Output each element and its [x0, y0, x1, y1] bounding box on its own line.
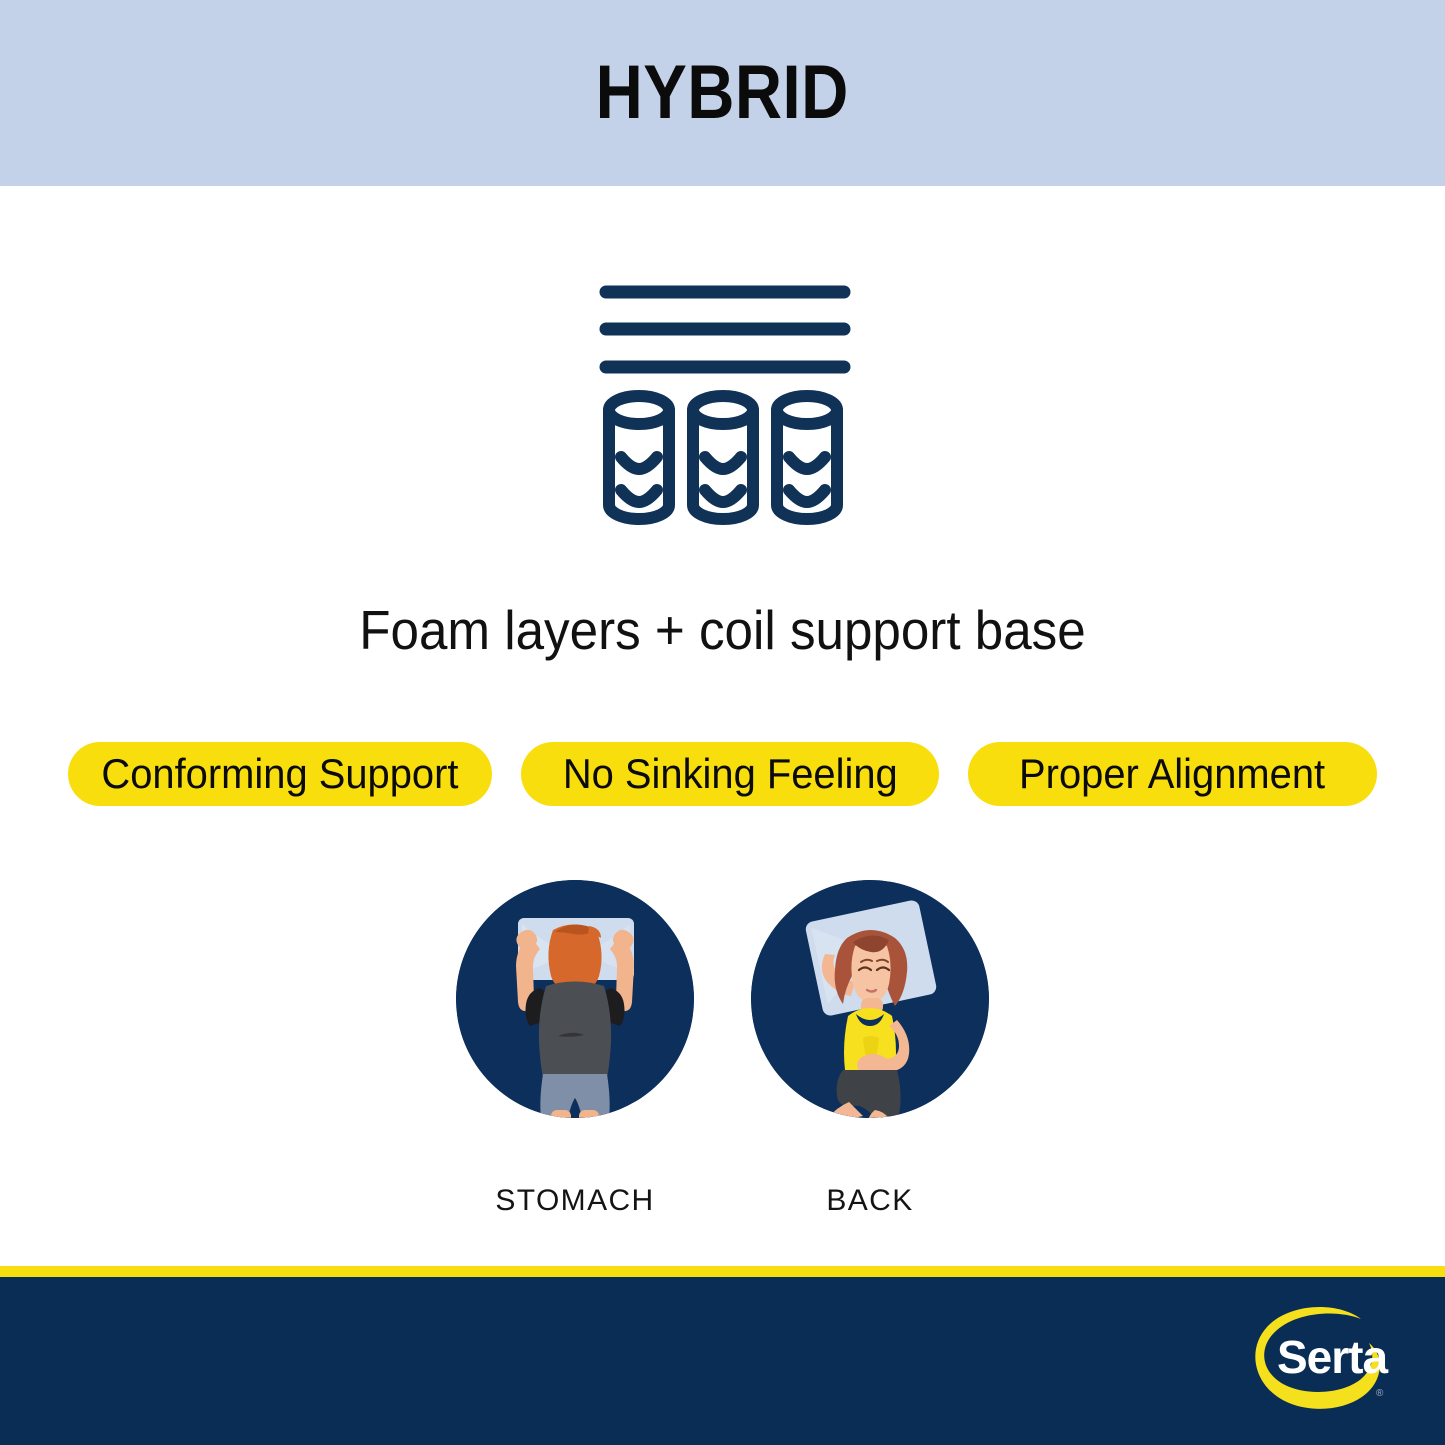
coil-cylinder-2 [693, 396, 753, 519]
stomach-sleeper-illustration [456, 880, 694, 1118]
benefit-pill-label: Conforming Support [101, 753, 458, 795]
benefit-pill-no-sinking-feeling[interactable]: No Sinking Feeling [521, 742, 939, 806]
construction-description: Foam layers + coil support base [51, 598, 1395, 662]
serta-logo[interactable]: Serta ® [1241, 1297, 1401, 1425]
footer-accent-rule [0, 1266, 1445, 1277]
registered-trademark-icon: ® [1376, 1388, 1384, 1399]
infographic-page: HYBRID [0, 0, 1445, 1445]
back-sleeper-illustration [751, 880, 989, 1118]
hybrid-mattress-icon [590, 275, 855, 535]
benefit-pill-label: Proper Alignment [1019, 753, 1325, 795]
coil-cylinder-1 [609, 396, 669, 519]
coil-cylinder-3 [777, 396, 837, 519]
sleep-position-label: STOMACH [440, 1184, 710, 1218]
benefit-pill-label: No Sinking Feeling [563, 753, 898, 795]
page-title: HYBRID [596, 55, 849, 131]
footer-band: Serta ® [0, 1277, 1445, 1445]
sleep-position-back: BACK [735, 880, 1005, 1218]
sleep-position-stomach: STOMACH [440, 880, 710, 1218]
benefit-pill-conforming-support[interactable]: Conforming Support [68, 742, 492, 806]
sleep-positions-row: STOMACH [0, 880, 1445, 1240]
header-band: HYBRID [0, 0, 1445, 186]
sleep-position-label: BACK [735, 1184, 1005, 1218]
shirt [539, 982, 611, 1079]
benefit-pill-row: Conforming Support No Sinking Feeling Pr… [68, 742, 1377, 806]
benefit-pill-proper-alignment[interactable]: Proper Alignment [968, 742, 1377, 806]
serta-wordmark: Serta [1277, 1331, 1388, 1383]
